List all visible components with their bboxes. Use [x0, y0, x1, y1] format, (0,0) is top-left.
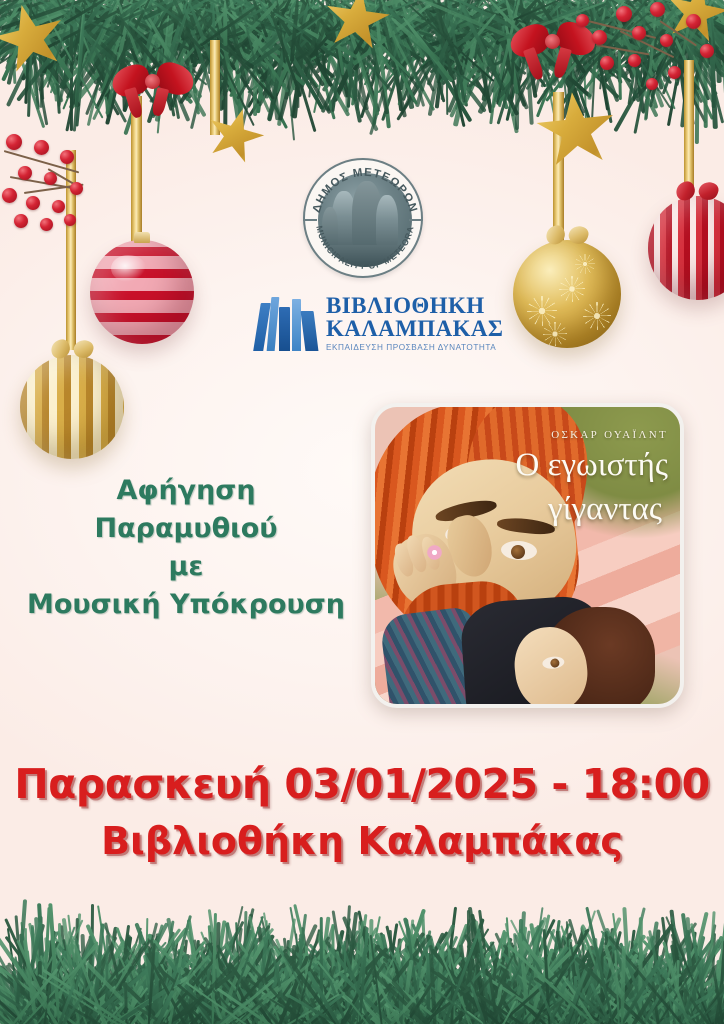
red-bow-right — [510, 22, 596, 80]
library-name-line1: ΒΙΒΛΙΟΘΗΚΗ — [326, 294, 503, 317]
book-cover-image: ΟΣΚΑΡ ΟΥΑΪΛΝΤ Ο εγωιστής γίγαντας — [371, 403, 684, 708]
gold-ribbon-right2 — [684, 60, 694, 190]
red-berry — [34, 140, 49, 155]
book-author: ΟΣΚΑΡ ΟΥΑΪΛΝΤ — [460, 429, 668, 441]
red-berry — [64, 214, 76, 226]
red-berry — [52, 200, 65, 213]
gold-star-top-left — [0, 0, 73, 82]
gold-snowflake-bauble — [513, 240, 621, 348]
library-logo-text: ΒΙΒΛΙΟΘΗΚΗ ΚΑΛΑΜΠΑΚΑΣ ΕΚΠΑΙΔΕΥΣΗ ΠΡΟΣΒΑΣ… — [326, 293, 503, 352]
bottom-pine-border — [0, 894, 724, 1024]
library-logo: ΒΙΒΛΙΟΘΗΚΗ ΚΑΛΑΜΠΑΚΑΣ ΕΚΠΑΙΔΕΥΣΗ ΠΡΟΣΒΑΣ… — [257, 293, 482, 359]
library-name-line2: ΚΑΛΑΜΠΑΚΑΣ — [326, 317, 503, 340]
municipality-seal: ΔΗΜΟΣ ΜΕΤΕΩΡΩΝ MUNICIPALITY OF METEORA — [303, 158, 423, 278]
red-berry — [2, 188, 17, 203]
gold-ribbon-right — [553, 92, 564, 242]
logo-books-icon — [257, 295, 319, 351]
headline-line-1: Αφήγηση — [16, 472, 356, 510]
event-venue: Βιβλιοθήκη Καλαμπάκας — [0, 816, 724, 866]
gold-ribbon-left — [131, 96, 142, 246]
svg-text:MUNICIPALITY OF METEORA: MUNICIPALITY OF METEORA — [314, 225, 415, 271]
red-berry — [14, 214, 28, 228]
poster-canvas: ΔΗΜΟΣ ΜΕΤΕΩΡΩΝ MUNICIPALITY OF METEORA Β… — [0, 0, 724, 1024]
red-berry — [6, 134, 22, 150]
library-tagline: ΕΚΠΑΙΔΕΥΣΗ ΠΡΟΣΒΑΣΗ ΔΥΝΑΤΟΤΗΤΑ — [326, 343, 503, 352]
event-details-block: Παρασκευή 03/01/2025 - 18:00 Βιβλιοθήκη … — [0, 758, 724, 866]
red-berry — [40, 218, 53, 231]
red-berry — [686, 14, 701, 29]
red-berry — [668, 66, 681, 79]
red-berry — [650, 2, 665, 17]
red-bow-left — [112, 62, 194, 118]
red-berry — [660, 34, 673, 47]
headline-line-3: με — [16, 548, 356, 586]
red-berry — [576, 14, 589, 27]
event-date-time: Παρασκευή 03/01/2025 - 18:00 — [0, 758, 724, 810]
book-cover-text: ΟΣΚΑΡ ΟΥΑΪΛΝΤ Ο εγωιστής γίγαντας — [460, 429, 668, 529]
giant-iris-right — [511, 545, 525, 559]
gold-star-top-center — [320, 0, 394, 56]
gold-striped-bauble — [20, 355, 124, 459]
red-berry — [646, 78, 658, 90]
red-berry — [60, 150, 74, 164]
headline-block: Αφήγηση Παραμυθιού με Μουσική Υπόκρουση — [16, 472, 356, 624]
red-striped-bauble — [90, 240, 194, 344]
gold-star-top-right — [532, 88, 620, 174]
red-vertical-striped-bauble — [648, 196, 724, 300]
book-title-line2: γίγαντας — [460, 489, 668, 529]
red-berry — [70, 182, 83, 195]
red-berry — [44, 172, 57, 185]
red-berry — [616, 6, 632, 22]
flower-detail — [425, 543, 444, 562]
headline-line-4: Μουσική Υπόκρουση — [16, 586, 356, 624]
red-berry — [632, 26, 646, 40]
red-berry — [700, 44, 714, 58]
headline-line-2: Παραμυθιού — [16, 510, 356, 548]
red-berry — [592, 30, 607, 45]
red-berry — [26, 196, 40, 210]
red-berry — [628, 54, 641, 67]
book-title-line1: Ο εγωιστής — [460, 445, 668, 485]
red-berry — [600, 56, 614, 70]
red-berry — [18, 166, 32, 180]
berry-twig — [596, 44, 650, 55]
seal-bottom-arc-text: MUNICIPALITY OF METEORA — [305, 160, 425, 280]
red-bauble-cap — [134, 232, 150, 243]
